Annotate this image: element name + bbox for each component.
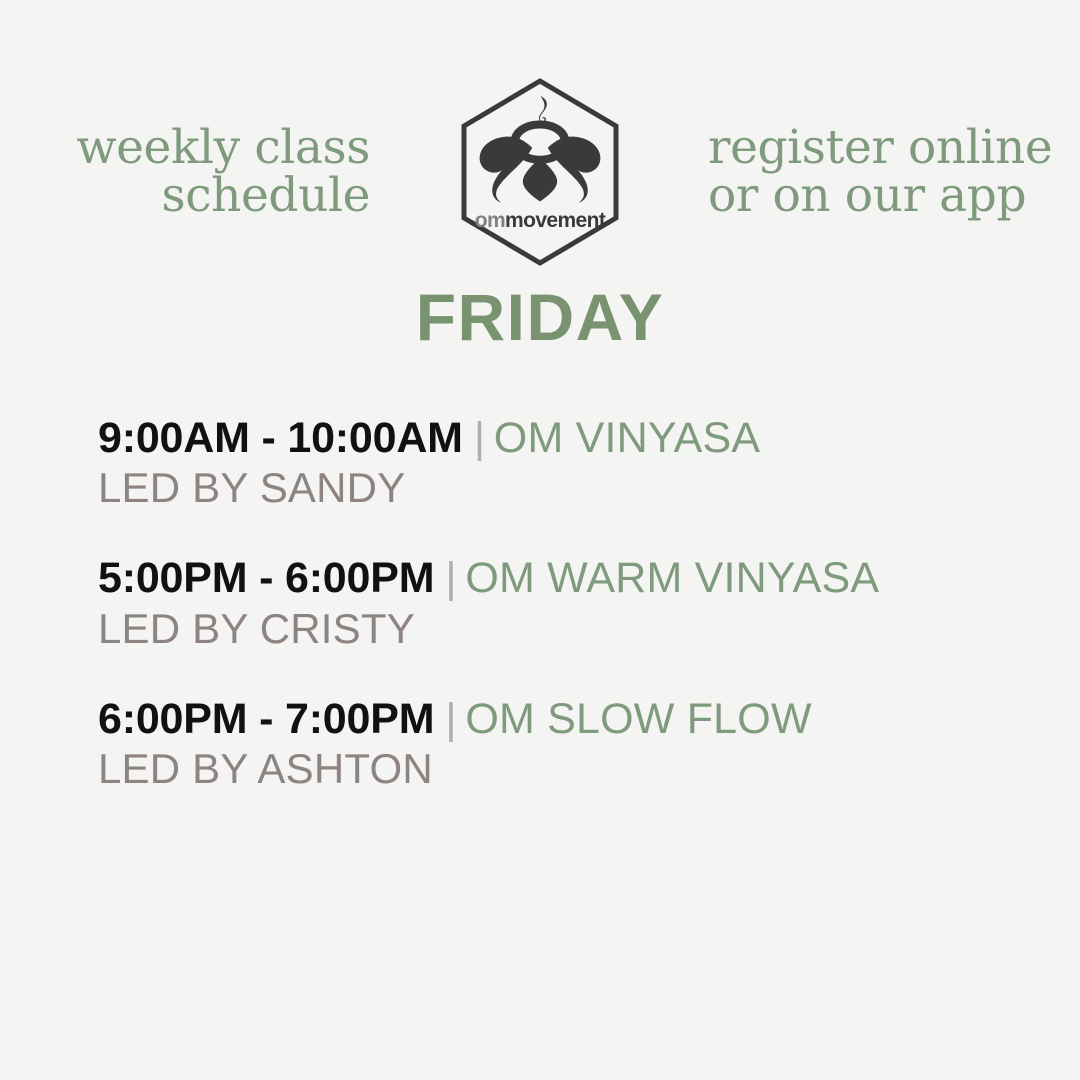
class-entry: 9:00AM - 10:00AM|OM VINYASA LED BY SANDY	[98, 415, 1018, 511]
tagline-right-line-2: or on our app	[708, 172, 1009, 220]
class-instructor: LED BY ASHTON	[98, 745, 1018, 792]
poster-header: weekly class schedule	[0, 72, 1080, 272]
class-separator: |	[463, 414, 494, 462]
class-time: 9:00AM - 10:00AM	[98, 414, 463, 462]
logo-wordmark: ommovement	[475, 209, 606, 232]
logo-wordmark-movement: movement	[505, 209, 606, 232]
class-time: 5:00PM - 6:00PM	[98, 554, 434, 602]
tagline-right-line-1: register online	[708, 124, 1009, 172]
class-name: OM SLOW FLOW	[465, 695, 811, 743]
schedule-poster: weekly class schedule	[0, 0, 1080, 1080]
ommovement-logo: ommovement	[456, 76, 624, 268]
class-name: OM VINYASA	[494, 414, 760, 462]
class-instructor: LED BY SANDY	[98, 464, 1018, 511]
class-entry: 6:00PM - 7:00PM|OM SLOW FLOW LED BY ASHT…	[98, 696, 1018, 792]
tagline-left-line-2: schedule	[71, 172, 370, 220]
class-entry-main: 6:00PM - 7:00PM|OM SLOW FLOW	[98, 696, 1018, 742]
day-title: FRIDAY	[0, 284, 1080, 350]
class-entry-main: 9:00AM - 10:00AM|OM VINYASA	[98, 415, 1018, 461]
class-separator: |	[434, 695, 465, 743]
tagline-weekly-class-schedule: weekly class schedule	[71, 124, 456, 220]
logo-wordmark-om: om	[475, 209, 505, 232]
yoga-figure-flame-icon	[480, 96, 601, 203]
tagline-register-online: register online or on our app	[624, 124, 1009, 220]
class-time: 6:00PM - 7:00PM	[98, 695, 434, 743]
class-separator: |	[434, 554, 465, 602]
class-entry-main: 5:00PM - 6:00PM|OM WARM VINYASA	[98, 555, 1018, 601]
class-instructor: LED BY CRISTY	[98, 605, 1018, 652]
class-entry: 5:00PM - 6:00PM|OM WARM VINYASA LED BY C…	[98, 555, 1018, 651]
tagline-left-line-1: weekly class	[71, 124, 370, 172]
class-name: OM WARM VINYASA	[465, 554, 879, 602]
class-schedule-list: 9:00AM - 10:00AM|OM VINYASA LED BY SANDY…	[98, 415, 1018, 792]
